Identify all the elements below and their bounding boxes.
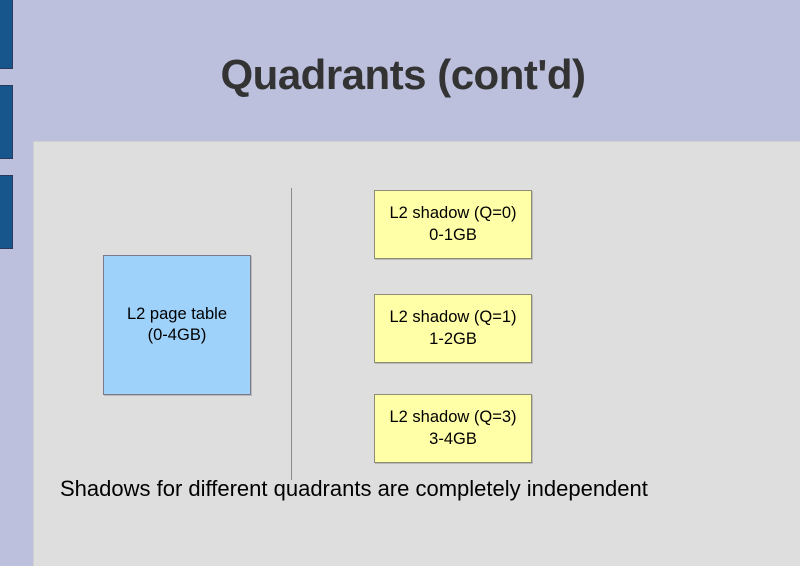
accent-bar-3-icon [0, 175, 13, 249]
slide-title: Quadrants (cont'd) [33, 52, 773, 98]
slide-caption: Shadows for different quadrants are comp… [60, 476, 780, 502]
content-panel: L2 page table (0-4GB) L2 shadow (Q=0) 0-… [33, 141, 800, 566]
l2-shadow-q0-box: L2 shadow (Q=0) 0-1GB [374, 190, 532, 259]
l2-shadow-q1-box: L2 shadow (Q=1) 1-2GB [374, 294, 532, 363]
l2-shadow-q3-box: L2 shadow (Q=3) 3-4GB [374, 394, 532, 463]
left-accent-bars [0, 0, 15, 566]
accent-bar-2-icon [0, 85, 13, 159]
vertical-divider [291, 188, 292, 480]
accent-bar-1-icon [0, 0, 13, 69]
slide: Quadrants (cont'd) L2 page table (0-4GB)… [0, 0, 800, 566]
l2-page-table-box: L2 page table (0-4GB) [103, 255, 251, 395]
